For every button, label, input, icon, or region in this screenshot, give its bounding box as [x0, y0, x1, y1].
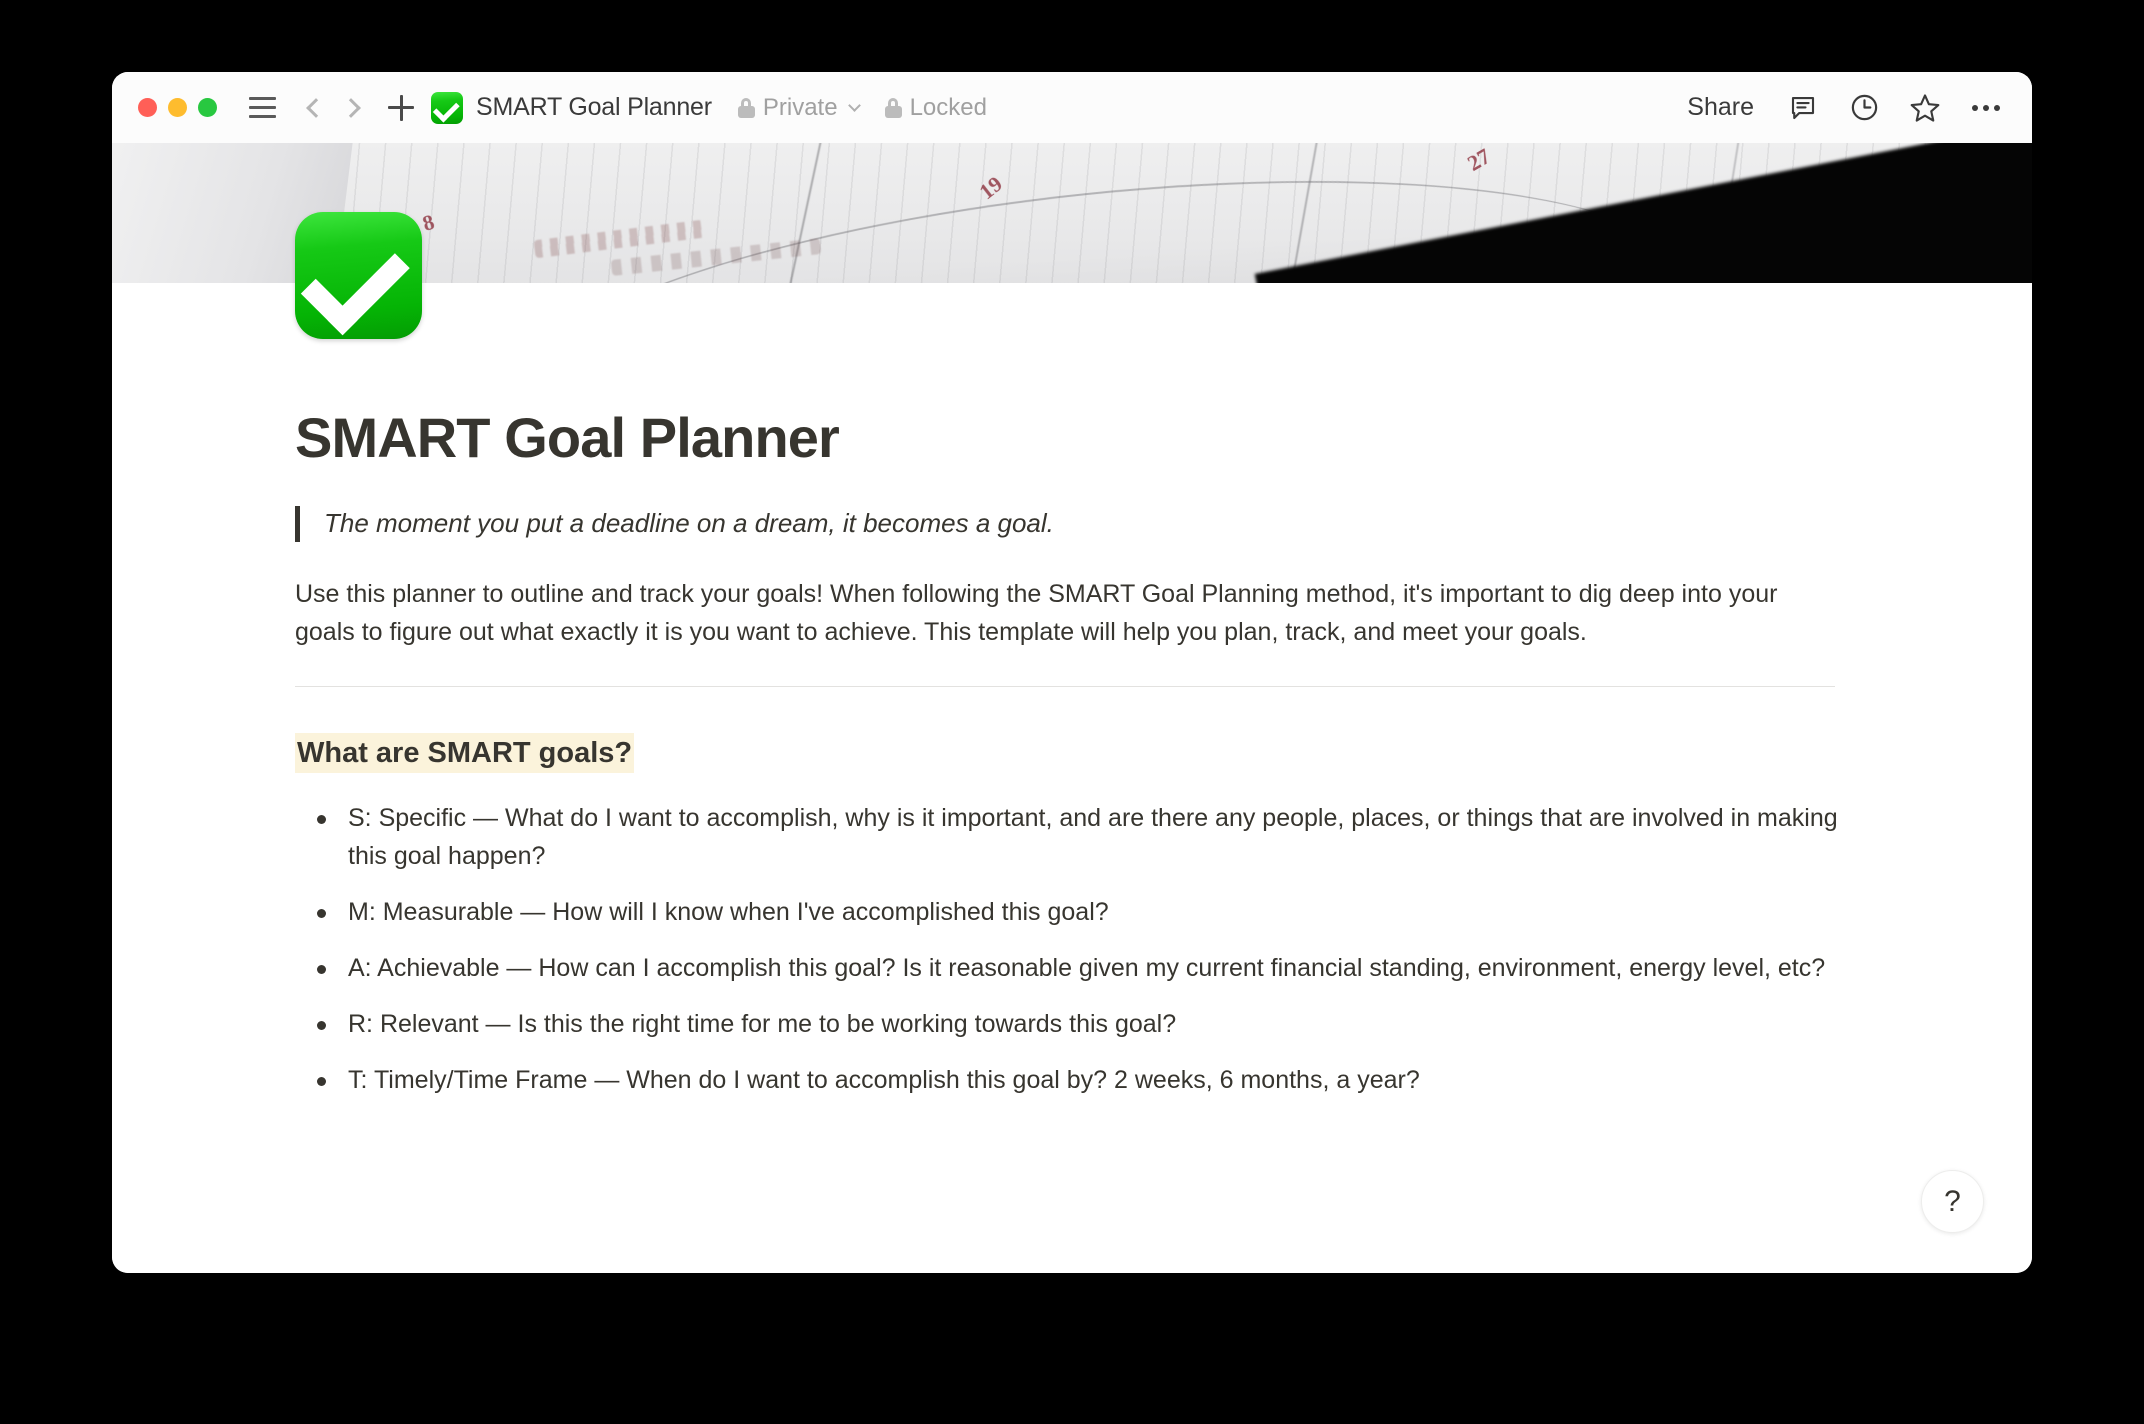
- title-bar: SMART Goal Planner Private Locked Share: [112, 72, 2032, 143]
- close-button[interactable]: [138, 98, 157, 117]
- help-button[interactable]: ?: [1921, 1170, 1984, 1233]
- app-window: SMART Goal Planner Private Locked Share: [112, 72, 2032, 1273]
- quote-block[interactable]: The moment you put a deadline on a dream…: [295, 506, 1855, 542]
- page-icon[interactable]: [295, 212, 422, 339]
- bullet-icon: [317, 1021, 326, 1030]
- locked-indicator[interactable]: Locked: [885, 94, 987, 122]
- divider: [295, 686, 1835, 687]
- bullet-icon: [317, 965, 326, 974]
- list-item[interactable]: A: Achievable — How can I accomplish thi…: [295, 949, 1855, 987]
- bullet-icon: [317, 815, 326, 824]
- bullet-icon: [317, 909, 326, 918]
- window-controls: [138, 98, 217, 117]
- updates-clock-icon[interactable]: [1846, 90, 1882, 126]
- list-item[interactable]: M: Measurable — How will I know when I'v…: [295, 893, 1855, 931]
- page-check-icon: [431, 92, 463, 124]
- quote-text: The moment you put a deadline on a dream…: [324, 506, 1054, 541]
- section-heading-wrap: What are SMART goals?: [295, 732, 1855, 774]
- page-body: SMART Goal Planner The moment you put a …: [112, 283, 2032, 1273]
- favorite-star-icon[interactable]: [1907, 90, 1943, 126]
- list-item[interactable]: T: Timely/Time Frame — When do I want to…: [295, 1061, 1855, 1099]
- quote-bar: [295, 506, 300, 542]
- section-heading[interactable]: What are SMART goals?: [295, 733, 634, 773]
- list-item-text: S: Specific — What do I want to accompli…: [348, 799, 1855, 875]
- maximize-button[interactable]: [198, 98, 217, 117]
- bullet-icon: [317, 1077, 326, 1086]
- lock-icon: [885, 98, 902, 118]
- list-item-text: T: Timely/Time Frame — When do I want to…: [348, 1061, 1855, 1099]
- list-item[interactable]: R: Relevant — Is this the right time for…: [295, 1005, 1855, 1043]
- nav-forward-icon[interactable]: [333, 88, 373, 128]
- lock-icon: [738, 98, 755, 118]
- page-content: SMART Goal Planner The moment you put a …: [295, 407, 1855, 1117]
- add-page-icon[interactable]: [379, 86, 423, 130]
- chevron-down-icon: [848, 99, 861, 112]
- share-button[interactable]: Share: [1681, 89, 1760, 126]
- minimize-button[interactable]: [168, 98, 187, 117]
- list-item-text: M: Measurable — How will I know when I'v…: [348, 893, 1855, 931]
- intro-paragraph[interactable]: Use this planner to outline and track yo…: [295, 575, 1840, 652]
- comment-icon[interactable]: [1785, 90, 1821, 126]
- locked-label: Locked: [910, 94, 987, 122]
- list-item-text: R: Relevant — Is this the right time for…: [348, 1005, 1855, 1043]
- list-item-text: A: Achievable — How can I accomplish thi…: [348, 949, 1855, 987]
- more-options-icon[interactable]: [1968, 90, 2004, 126]
- titlebar-actions: Share: [1681, 89, 2004, 126]
- privacy-label: Private: [763, 94, 838, 122]
- hamburger-menu-icon[interactable]: [243, 89, 281, 127]
- privacy-selector[interactable]: Private: [738, 94, 859, 122]
- page-title[interactable]: SMART Goal Planner: [295, 407, 1855, 470]
- tab-title[interactable]: SMART Goal Planner: [476, 93, 712, 122]
- list-item[interactable]: S: Specific — What do I want to accompli…: [295, 799, 1855, 875]
- nav-back-icon[interactable]: [293, 88, 333, 128]
- smart-goals-list: S: Specific — What do I want to accompli…: [295, 799, 1855, 1099]
